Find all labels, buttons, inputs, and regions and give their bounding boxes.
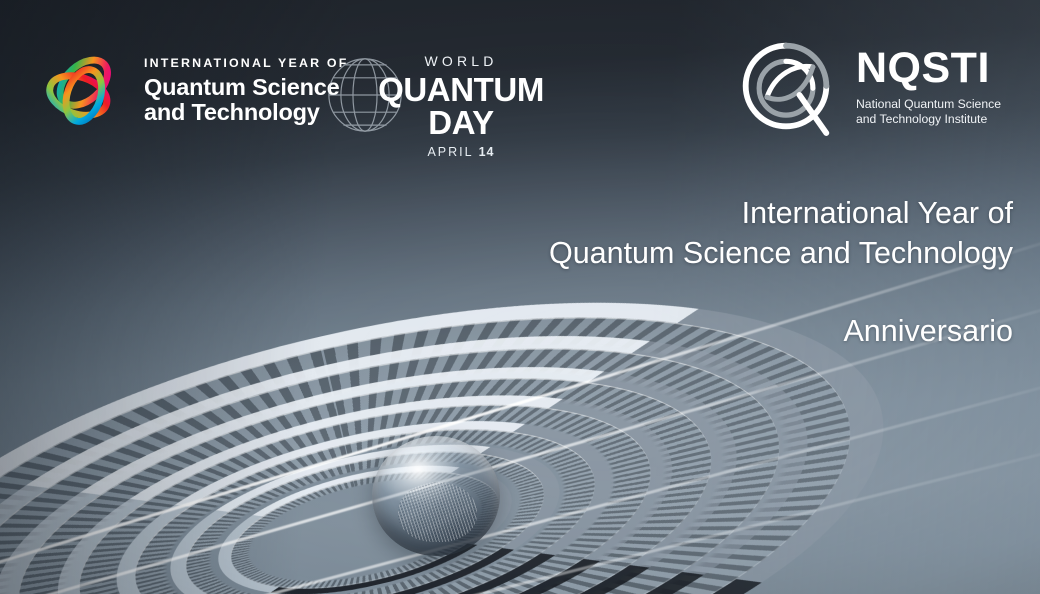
iyq-title-line2: and Technology — [144, 99, 320, 125]
subtitle: Anniversario — [393, 313, 1013, 350]
nqsti-logo: NQSTI National Quantum Science and Techn… — [730, 30, 1001, 142]
page-title: International Year of Quantum Science an… — [393, 194, 1013, 273]
headline-line1: International Year of — [742, 196, 1013, 230]
wqd-date: APRIL 14 — [350, 145, 572, 159]
iyq-title-line1: Quantum Science — [144, 74, 340, 100]
nqsti-subtitle-line1: National Quantum Science — [856, 97, 1001, 111]
wqd-world-label: WORLD — [350, 54, 572, 68]
wqd-main-label: QUANTUM DAY — [350, 73, 572, 139]
nqsti-q-monogram-icon — [730, 30, 842, 142]
wqd-date-month: APRIL — [427, 145, 478, 159]
nqsti-wordmark: NQSTI National Quantum Science and Techn… — [856, 44, 1001, 127]
nqsti-subtitle-line2: and Technology Institute — [856, 112, 987, 126]
iyq-logo: INTERNATIONAL YEAR OF Quantum Science an… — [36, 44, 349, 136]
wqd-date-day: 14 — [479, 145, 495, 159]
world-quantum-day-wordmark: WORLD QUANTUM DAY APRIL 14 — [350, 54, 572, 159]
logo-strip: INTERNATIONAL YEAR OF Quantum Science an… — [0, 0, 1040, 160]
iyq-atom-rings-logo-icon — [36, 44, 128, 136]
slide-canvas: INTERNATIONAL YEAR OF Quantum Science an… — [0, 0, 1040, 594]
iyq-kicker: INTERNATIONAL YEAR OF — [144, 57, 349, 69]
nqsti-word: NQSTI — [856, 48, 1001, 89]
headline-line2: Quantum Science and Technology — [393, 234, 1013, 274]
iyq-wordmark: INTERNATIONAL YEAR OF Quantum Science an… — [144, 55, 349, 126]
world-quantum-day-logo: WORLD QUANTUM DAY APRIL 14 — [322, 48, 572, 144]
